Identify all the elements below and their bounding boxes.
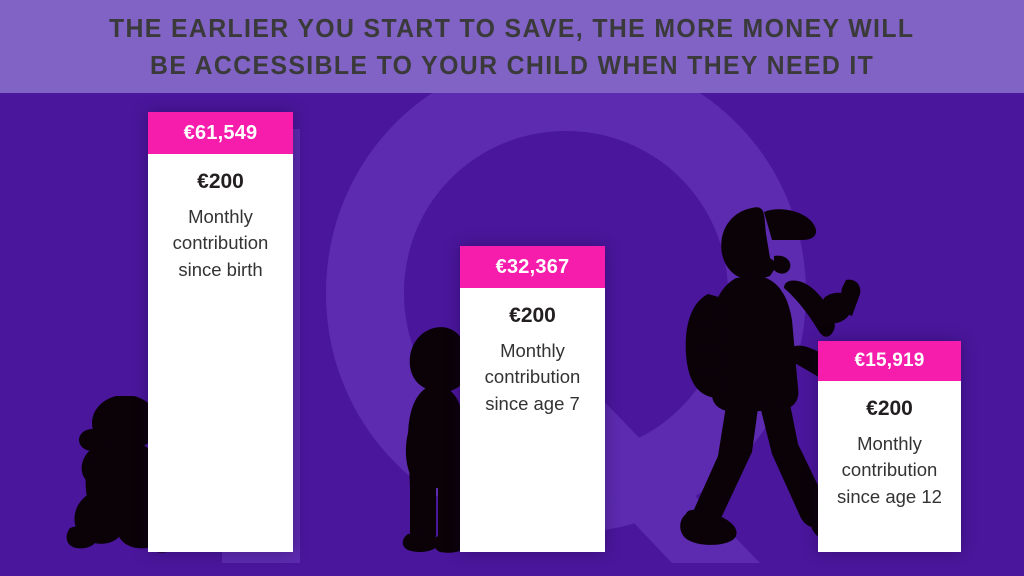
- bar-value-label: €32,367: [460, 246, 605, 288]
- bar-monthly-amount: €200: [509, 304, 556, 327]
- bar-value-label: €15,919: [818, 341, 961, 381]
- bar-body: €200 Monthly contribution since age 7: [460, 288, 605, 552]
- headline-banner: THE EARLIER YOU START TO SAVE, THE MORE …: [0, 0, 1024, 93]
- bar-desc-line-1: Monthly: [485, 338, 581, 364]
- bar-description: Monthly contribution since age 12: [831, 431, 948, 510]
- infographic-canvas: €61,549 €200 Monthly contribution since …: [0, 0, 1024, 576]
- bar-column-age-12[interactable]: €15,919 €200 Monthly contribution since …: [818, 341, 961, 552]
- bar-desc-line-2: contribution: [173, 230, 269, 256]
- bar-body: €200 Monthly contribution since age 12: [818, 381, 961, 552]
- bar-monthly-amount: €200: [197, 170, 244, 193]
- bar-desc-line-3: since age 12: [837, 484, 942, 510]
- bar-description: Monthly contribution since birth: [167, 204, 275, 283]
- bar-body: €200 Monthly contribution since birth: [148, 154, 293, 552]
- bar-column-age-7[interactable]: €32,367 €200 Monthly contribution since …: [460, 246, 605, 552]
- bar-monthly-amount: €200: [866, 397, 913, 420]
- bar-desc-line-2: contribution: [837, 457, 942, 483]
- bar-desc-line-3: since birth: [173, 257, 269, 283]
- bar-desc-line-2: contribution: [485, 364, 581, 390]
- bar-desc-line-3: since age 7: [485, 391, 581, 417]
- bar-value-label: €61,549: [148, 112, 293, 154]
- headline-line-1: THE EARLIER YOU START TO SAVE, THE MORE …: [109, 11, 914, 46]
- bar-column-birth[interactable]: €61,549 €200 Monthly contribution since …: [148, 112, 293, 552]
- bar-desc-line-1: Monthly: [837, 431, 942, 457]
- bar-desc-line-1: Monthly: [173, 204, 269, 230]
- bar-description: Monthly contribution since age 7: [479, 338, 587, 417]
- headline-line-2: BE ACCESSIBLE TO YOUR CHILD WHEN THEY NE…: [150, 48, 874, 83]
